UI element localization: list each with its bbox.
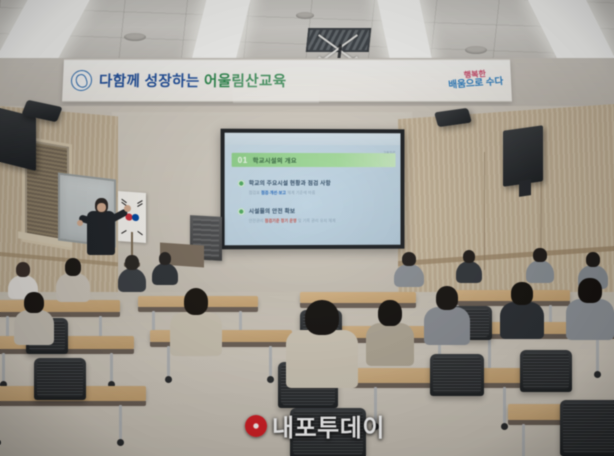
slide-bullet-2-sub: 안전관리 점검기준 정기 운영 및 기록 관리 유지 체계: [249, 217, 336, 223]
slide-bullet-1-sub-suffix: 체계 기준에 따름: [287, 189, 315, 194]
audience-member-body: [500, 302, 544, 339]
watermark-text: 내포투데이: [272, 408, 385, 443]
banner-occlusion-overlay: [233, 57, 319, 103]
slide-bullet-2-sub-highlight: 점검기준 정기 운영: [265, 218, 297, 223]
audience-member-head: [533, 248, 546, 262]
watermark: 내포투데이: [245, 408, 385, 443]
audience-member-body: [118, 268, 146, 292]
audience-member: [286, 300, 358, 380]
audience-member-body: [366, 323, 414, 366]
ceiling-vent-icon: [296, 12, 314, 19]
audience-member-body: [526, 260, 554, 283]
slide-bullet-2: 시설물의 안전 확보 안전관리 점검기준 정기 운영 및 기록 관리 유지 체계: [238, 207, 336, 224]
desk-leg: [488, 338, 491, 371]
desk-leg: [2, 353, 5, 381]
chair: [34, 358, 86, 400]
audience-member-head: [463, 250, 475, 263]
slide-bullet-1-sub-highlight: 점검·개선·보고: [261, 190, 286, 195]
audience-member-body: [566, 299, 614, 339]
audience-member: [394, 252, 424, 284]
audience-member-head: [65, 258, 81, 276]
presenter-hand-left: [77, 220, 83, 226]
institution-emblem-icon: [71, 70, 93, 91]
slide-bullet-1-main: 학교의 주요시설 현황과 점검 사항: [249, 179, 331, 187]
audience-member-body: [152, 263, 178, 285]
desk-caster: [165, 376, 172, 383]
audience-member-body: [456, 261, 482, 283]
slide-top-margin: [225, 133, 401, 146]
desk-leg: [119, 405, 122, 439]
audience-member-body: [286, 330, 358, 388]
audience-member-head: [125, 255, 138, 270]
ceiling-speaker-left-icon: [124, 33, 146, 41]
audience-member-head: [378, 300, 401, 326]
speaker-right-bracket: [519, 179, 531, 197]
audience-member: [366, 300, 414, 360]
audience-member-body: [56, 273, 90, 302]
chair-mesh: [523, 353, 569, 389]
desk-leg: [522, 424, 525, 456]
audience-member-head: [184, 288, 209, 315]
presenter-face: [97, 203, 106, 212]
chair: [560, 400, 614, 456]
audience-member: [424, 286, 470, 340]
chair-mesh: [563, 403, 614, 453]
desk-caster: [594, 371, 601, 378]
desk-leg: [99, 316, 102, 338]
audience-member-body: [14, 310, 54, 345]
banner-slogan-line2: 배움으로 수다: [448, 78, 504, 92]
naepo-today-logo-icon: [245, 415, 267, 437]
audience-member-head: [16, 262, 30, 277]
audience-member-body: [424, 307, 470, 346]
audience-member-head: [511, 282, 532, 305]
slide-bullet-2-sub-suffix: 및 기록 관리 유지 체계: [298, 217, 336, 222]
presenter-hand-right: [124, 205, 131, 212]
slide-section-header: 01 학교시설의 개요: [232, 153, 396, 167]
desk-leg: [6, 316, 9, 338]
audience-member-body: [170, 312, 222, 357]
desk-caster: [267, 376, 274, 383]
desk-caster: [117, 439, 124, 446]
chair: [520, 350, 572, 392]
audience-member: [56, 258, 90, 298]
audience-member: [500, 282, 544, 334]
slide-bullet-1-sub-prefix: 점검표: [249, 190, 260, 195]
projected-slide: 교육자료 01 학교시설의 개요 학교의 주요시설 현황과 점검 사항 점검표 …: [225, 133, 401, 246]
slide-bullet-2-main: 시설물의 안전 확보: [249, 207, 336, 215]
slide-section-title: 학교시설의 개요: [253, 155, 297, 164]
desk-leg: [269, 346, 272, 376]
audience-member-head: [24, 292, 43, 313]
audience-member: [566, 278, 614, 334]
audience-member: [152, 252, 178, 282]
slide-bullet-1-sub: 점검표 점검·개선·보고 체계 기준에 따름: [249, 189, 331, 195]
projection-screen: 교육자료 01 학교시설의 개요 학교의 주요시설 현황과 점검 사항 점검표 …: [221, 129, 405, 250]
audience-member: [118, 255, 146, 289]
audience-member: [456, 250, 482, 280]
taeguk-blue: [132, 214, 139, 221]
audience-member: [526, 248, 554, 280]
audience-member: [170, 288, 222, 350]
slide-section-number: 01: [238, 155, 248, 164]
slide-bullet-2-sub-prefix: 안전관리: [249, 218, 264, 223]
audience-member-head: [402, 252, 416, 266]
ceiling-speaker-right-icon: [465, 46, 487, 54]
banner-slogan: 행복한 배움으로 수다: [447, 69, 504, 91]
green-check-circle-icon: [238, 179, 245, 186]
slide-bullet-1: 학교의 주요시설 현황과 점검 사항 점검표 점검·개선·보고 체계 기준에 따…: [238, 179, 331, 196]
audience-member-head: [586, 252, 600, 267]
lecture-hall-photo: 다함께 성장하는 어울림산교육 행복한 배움으로 수다 교육자료 01 학교시설…: [0, 0, 614, 456]
audience-member: [8, 262, 38, 296]
audience-member-head: [305, 300, 340, 335]
audience-member-head: [436, 286, 458, 310]
audience-member-head: [159, 252, 171, 265]
audience-member-body: [394, 264, 424, 287]
chair-mesh: [37, 361, 83, 397]
audience-member: [14, 292, 54, 340]
audience-member-head: [578, 278, 601, 303]
speaker-right-wall: [503, 125, 543, 187]
chair: [430, 354, 484, 396]
desk-leg: [503, 387, 506, 423]
green-check-circle-icon: [238, 208, 245, 215]
desk-leg: [596, 338, 599, 371]
chair-mesh: [433, 357, 481, 393]
desk-leg: [110, 353, 113, 381]
banner-headline-part1: 다함께 성장하는: [99, 74, 200, 90]
